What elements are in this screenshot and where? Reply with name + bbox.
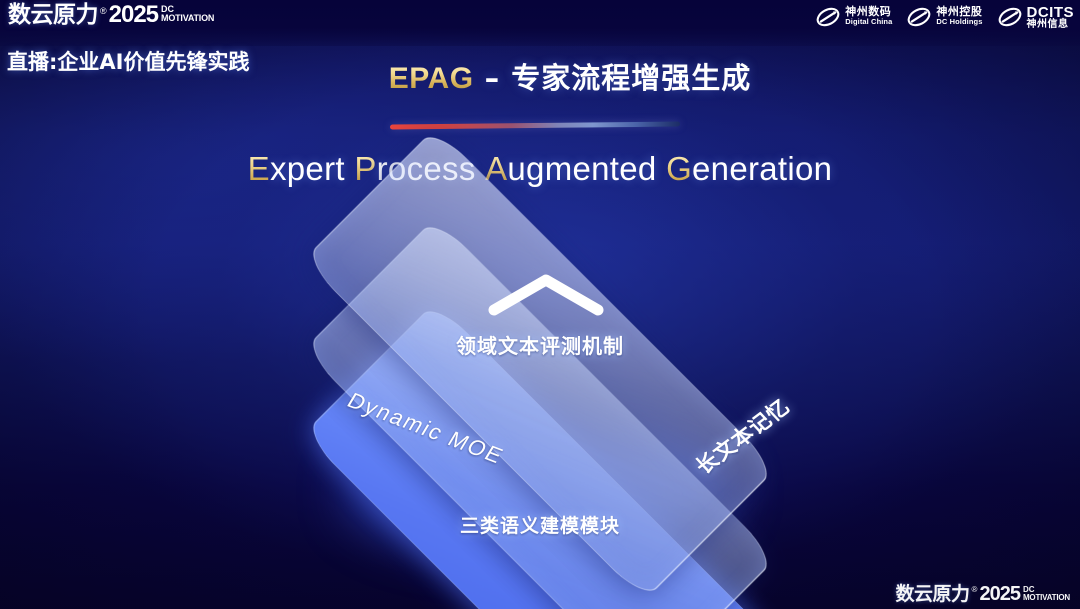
partner-name-cn: 神州数码 [845,7,892,17]
swoosh-icon [815,4,841,30]
layer-bottom-label: 三类语义建模模块 [290,511,790,538]
chevron-up-icon [486,270,606,318]
partner-logo-dcits: DCITS 神州信息 [997,4,1075,30]
watermark-year: 2025 [979,583,1020,605]
partner-logo-group: 神州数码 Digital China 神州控股 DC Holdings [815,4,1074,30]
subtitle-space-1 [345,150,354,187]
swoosh-icon [997,4,1023,30]
subtitle-word-expert: xpert [270,150,345,187]
partner-label-group: 神州控股 DC Holdings [936,7,982,27]
slide-subtitle: Expert Process Augmented Generation [0,150,1080,188]
brand-year: 2025 [109,2,158,28]
partner-name-cn: 神州信息 [1027,20,1075,30]
title-chinese: 专家流程增强生成 [511,61,751,95]
watermark-motivation-label: MOTIVATION [1023,594,1070,602]
slide-canvas: 数云原力 ® 2025 DC MOTIVATION 直播:企业AI价值先锋实践 … [0,0,1080,609]
subtitle-cap-e: E [248,150,270,187]
partner-logo-digital-china: 神州数码 Digital China [815,4,892,30]
watermark-registered-mark: ® [972,583,978,595]
partner-label-group: 神州数码 Digital China [845,7,892,27]
partner-name-en: DCITS [1027,5,1075,20]
brand-registered-mark: ® [100,2,107,17]
brand-logo: 数云原力 ® 2025 DC MOTIVATION [8,2,214,28]
subtitle-cap-g: G [666,150,692,187]
subtitle-cap-p: P [354,150,376,187]
swoosh-icon [906,4,932,30]
partner-name-cn: 神州控股 [936,7,982,17]
layer-stack-diagram: 领域文本评测机制 Dynamic MOE 长文本记忆 三类语义建模模块 [290,222,790,582]
watermark-dc-motivation: DC MOTIVATION [1023,583,1070,602]
subtitle-space-3 [657,150,666,187]
title-acronym: EPAG [389,62,474,95]
partner-name-en: Digital China [845,17,892,27]
slide-title: EPAG – 专家流程增强生成 [0,55,1080,97]
subtitle-word-augmented: ugmented [507,150,656,187]
title-divider [390,121,680,129]
watermark-name-cn: 数云原力 [896,583,970,605]
layer-top-label: 领域文本评测机制 [290,330,790,359]
brand-dc-motivation: DC MOTIVATION [161,2,214,23]
brand-motivation-label: MOTIVATION [161,14,214,23]
title-separator: – [474,61,512,95]
partner-name-en: DC Holdings [936,17,982,27]
footer-watermark: 数云原力 ® 2025 DC MOTIVATION [896,583,1070,605]
partner-logo-dc-holdings: 神州控股 DC Holdings [906,4,982,30]
partner-label-group: DCITS 神州信息 [1027,5,1075,30]
subtitle-word-generation: eneration [692,150,832,187]
brand-name-cn: 数云原力 [8,2,98,28]
